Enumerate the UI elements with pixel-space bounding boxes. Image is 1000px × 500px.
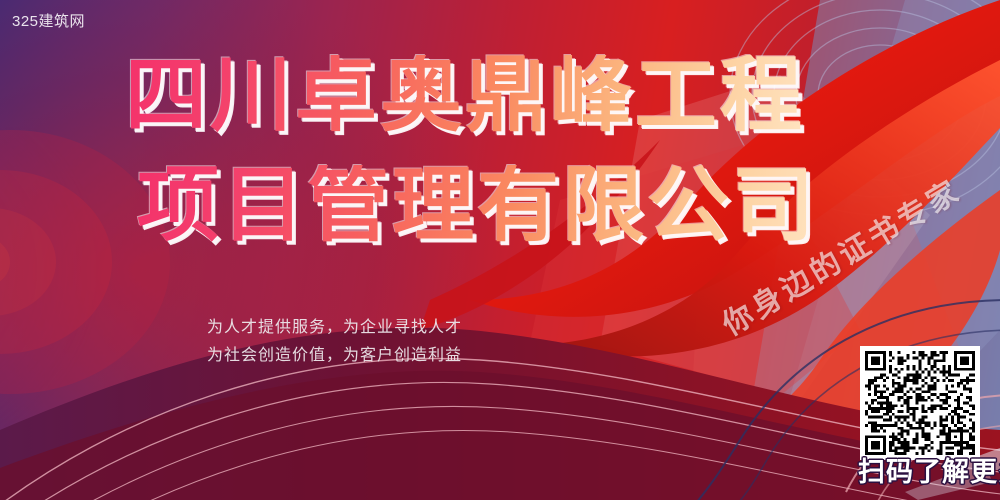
qr-code-image <box>865 351 975 455</box>
qr-code[interactable] <box>860 346 980 460</box>
headline-line-2: 项目管理有限公司 <box>137 165 817 247</box>
slogan-line-1: 为人才提供服务，为企业寻找人才 <box>207 313 462 337</box>
site-watermark: 325建筑网 <box>12 10 85 31</box>
slogan-line-2: 为社会创造价值，为客户创造利益 <box>207 341 462 365</box>
promo-banner: 325建筑网 四川卓奥鼎峰工程 项目管理有限公司 为人才提供服务，为企业寻找人才… <box>0 0 1000 500</box>
headline-line-1: 四川卓奥鼎峰工程 <box>125 55 805 137</box>
qr-caption: 扫码了解更多 <box>858 450 1000 489</box>
